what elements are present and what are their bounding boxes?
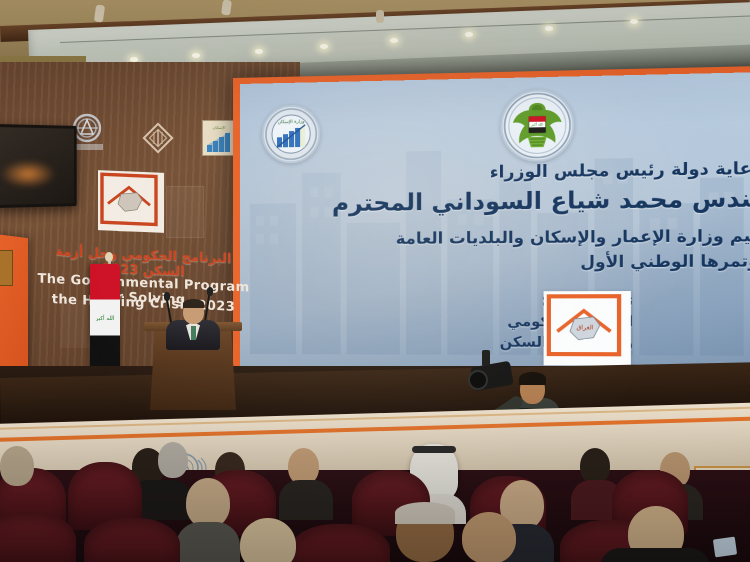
speaker-tie <box>191 326 196 340</box>
projection-screen: وزارة الإسكان الله أكبر <box>240 72 750 393</box>
flag-text: الله أكبر <box>93 306 117 313</box>
track-spotlight <box>376 10 384 23</box>
ceiling-downlight <box>545 26 553 31</box>
audience-head <box>158 442 188 478</box>
ceiling-downlight <box>255 49 263 54</box>
ceiling-downlight <box>465 32 473 37</box>
orange-panel-badge <box>0 250 13 286</box>
left-banner-house-logo <box>98 170 164 233</box>
audience-body <box>176 522 240 562</box>
handheld-device-screen <box>713 537 737 558</box>
cameraman-hair <box>519 372 546 385</box>
audience-head <box>186 478 230 528</box>
audience-seat <box>84 518 180 562</box>
diamond-kufic-emblem <box>140 120 176 156</box>
camera-top-handle <box>482 350 490 366</box>
svg-text:الله أكبر: الله أكبر <box>530 121 543 126</box>
slide-line-sponsor: برعاية دولة رئيس مجلس الوزراء <box>490 158 750 182</box>
audience-hair <box>395 502 455 524</box>
ceiling-downlight <box>630 19 638 24</box>
camera-lens-icon <box>468 370 488 390</box>
house-iraq-map-logo: العراق <box>544 291 631 366</box>
conference-hall-photo: الإسكان <box>0 0 750 562</box>
audience-head <box>462 512 516 562</box>
audience-kufiya-band <box>412 446 456 453</box>
slide-line-ministry: تقيم وزارة الإعمار والإسكان والبلديات ال… <box>396 225 750 248</box>
speaker-hair <box>183 299 204 308</box>
podium-speaker <box>162 296 224 348</box>
ceiling-downlight <box>390 38 398 43</box>
audience-head <box>0 446 34 486</box>
slide-line-conference: مؤتمرها الوطني الأول <box>580 251 750 272</box>
iraq-eagle-emblem: الله أكبر <box>500 89 574 162</box>
audience-body <box>279 480 333 520</box>
svg-text:الله أكبر: الله أكبر <box>95 314 115 321</box>
audience-body <box>600 548 710 562</box>
svg-text:وزارة الإسكان: وزارة الإسكان <box>278 119 305 126</box>
engineers-union-label <box>73 144 103 150</box>
mic-head <box>207 287 213 296</box>
ceiling-downlight <box>192 53 200 58</box>
ministry-housing-logo: وزارة الإسكان <box>262 104 320 163</box>
flag-finial <box>105 252 113 262</box>
audience-head <box>580 448 610 484</box>
ceiling-downlight <box>320 44 328 49</box>
svg-text:العراق: العراق <box>576 324 593 331</box>
housing-ministry-chart-sign: الإسكان <box>202 120 236 156</box>
slide-line-name: المهندس محمد شياع السوداني المحترم <box>332 185 750 217</box>
